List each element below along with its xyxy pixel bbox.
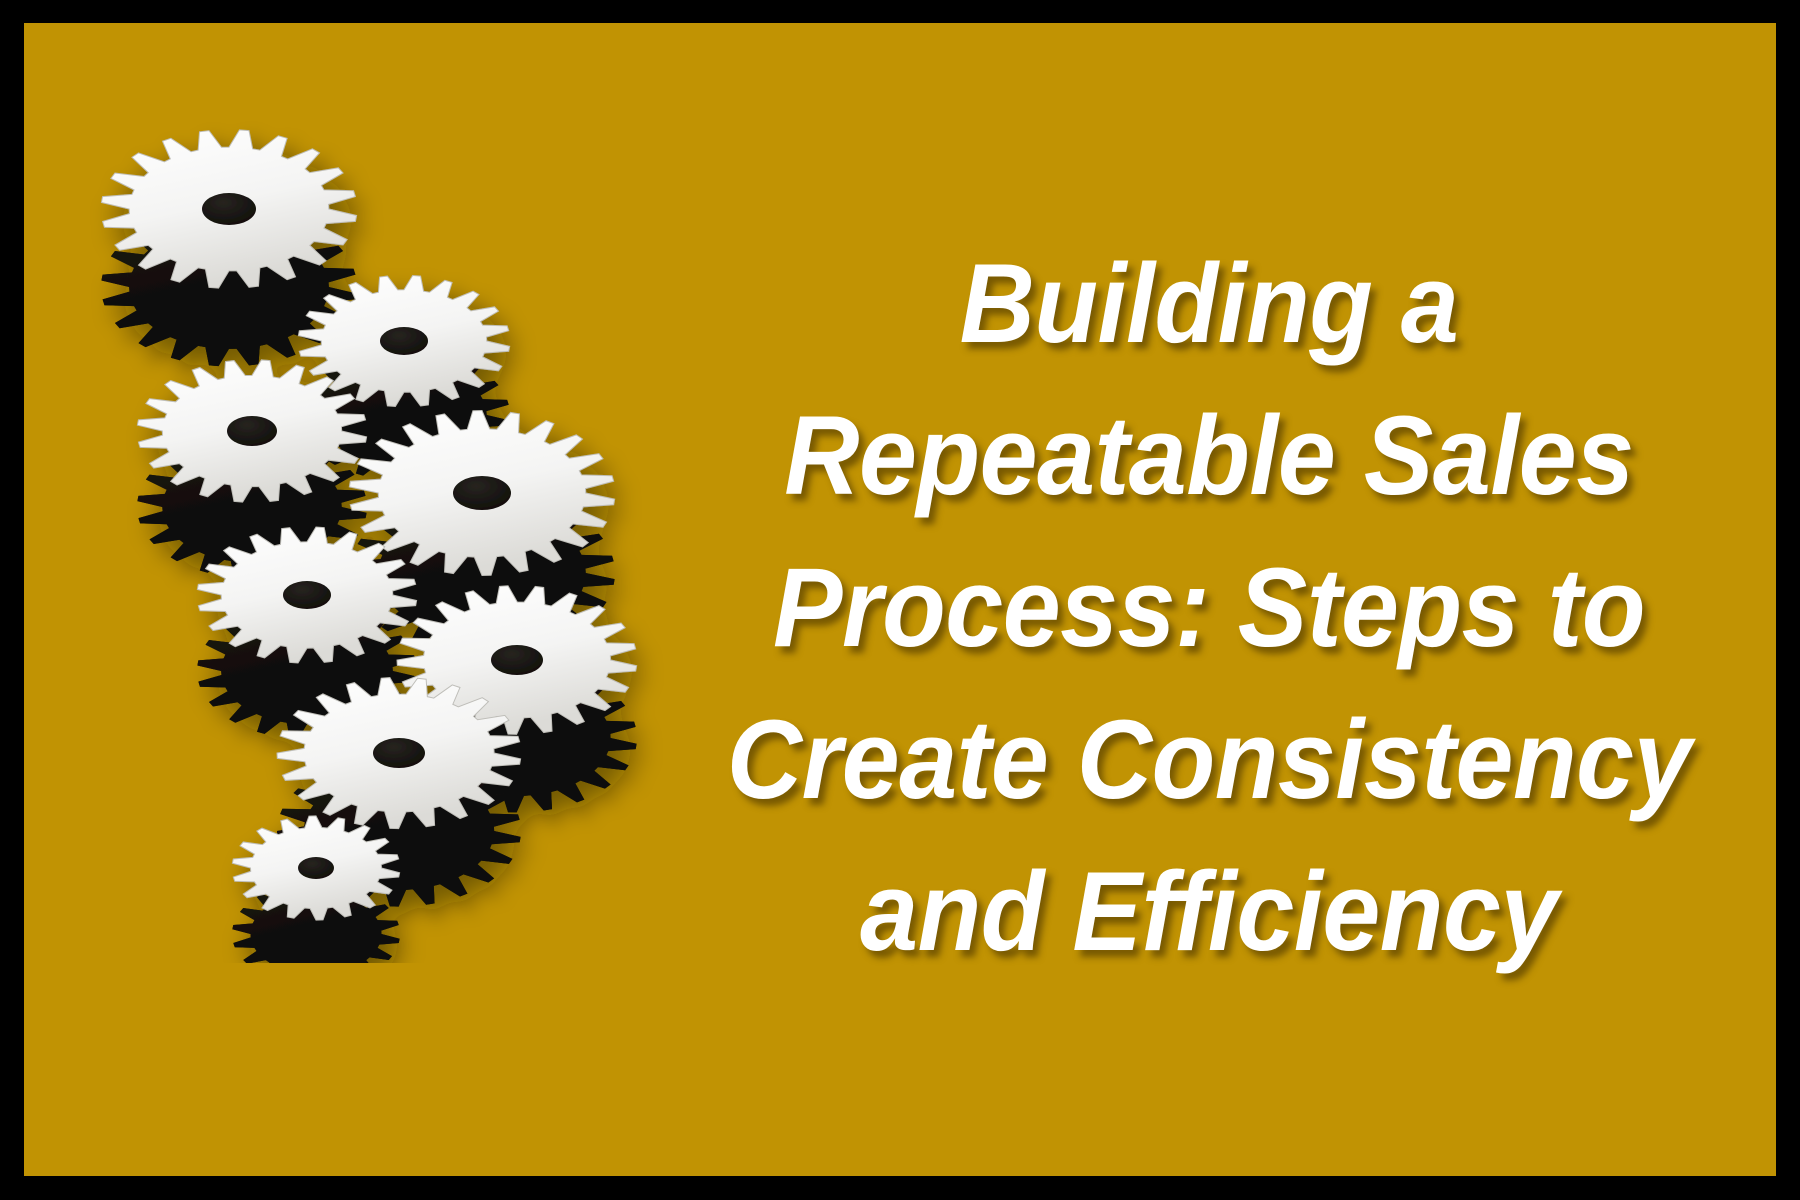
gear-face <box>197 527 416 663</box>
gear-face <box>277 678 521 829</box>
gear-extrusion <box>232 816 399 963</box>
gear-extrusion <box>397 586 637 813</box>
gear-extrusion <box>101 130 356 366</box>
gear-face <box>349 411 614 576</box>
gear-face <box>298 276 509 407</box>
gear-face <box>137 360 366 502</box>
poster-title: Building a Repeatable Sales Process: Ste… <box>644 173 1774 1043</box>
gear-side <box>137 436 366 578</box>
gear-side <box>232 882 399 963</box>
gear-extrusion <box>197 527 416 739</box>
gear-5 <box>197 527 416 739</box>
poster-inner-panel: Building a Repeatable Sales Process: Ste… <box>24 23 1776 1176</box>
gear-face <box>101 130 356 288</box>
gear-2 <box>298 276 509 481</box>
gear-6 <box>397 586 637 813</box>
gear-center-hole <box>227 416 277 446</box>
gear-center-hole <box>491 645 543 675</box>
gear-8 <box>232 816 399 963</box>
gear-4 <box>349 411 614 656</box>
gears-svg <box>24 23 684 963</box>
gear-center-hole <box>380 327 428 355</box>
gear-center-hole <box>298 857 334 879</box>
gear-extrusion <box>137 360 366 578</box>
gear-center-hole <box>373 738 425 768</box>
gear-face <box>232 816 399 920</box>
title-line-5: and Efficiency <box>684 836 1735 988</box>
gear-cluster-illustration <box>24 23 684 963</box>
poster-canvas: Building a Repeatable Sales Process: Ste… <box>0 0 1800 1200</box>
gear-side <box>277 756 521 907</box>
gear-center-hole <box>453 476 511 510</box>
gear-side <box>101 208 356 366</box>
gear-side <box>298 350 509 481</box>
title-line-4: Create Consistency <box>684 684 1735 836</box>
gear-extrusion <box>349 411 614 656</box>
gear-side <box>197 603 416 739</box>
gear-side <box>349 491 614 656</box>
gear-7 <box>277 678 521 907</box>
title-line-3: Process: Steps to <box>684 532 1735 684</box>
gear-center-hole <box>202 193 256 225</box>
gear-side <box>397 664 637 813</box>
gear-extrusion <box>298 276 509 481</box>
title-line-1: Building a <box>684 228 1735 380</box>
title-line-2: Repeatable Sales <box>684 380 1735 532</box>
gear-3 <box>137 360 366 578</box>
gear-center-hole <box>283 581 331 609</box>
gear-face <box>397 586 637 735</box>
gear-extrusion <box>277 678 521 907</box>
gear-1 <box>101 130 356 366</box>
